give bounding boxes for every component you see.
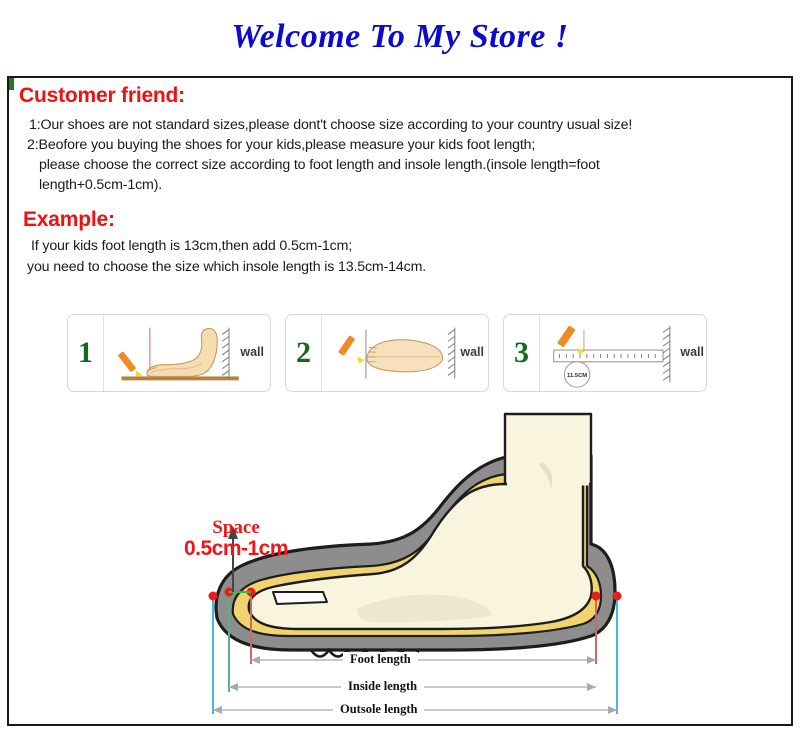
example-line-1: If your kids foot length is 13cm,then ad… xyxy=(31,238,352,254)
toe-space-label: Space 0.5cm-1cm xyxy=(151,518,321,560)
title-bar: Welcome To My Store ! xyxy=(0,18,800,56)
customer-line-4: length+0.5cm-1cm). xyxy=(39,177,162,193)
space-word: Space xyxy=(151,518,321,538)
example-line-2: you need to choose the size which insole… xyxy=(27,259,426,275)
corner-accent xyxy=(9,78,14,90)
step-art-3: 11.5CM xyxy=(540,315,706,391)
step-number-1: 1 xyxy=(78,338,93,368)
measuring-steps: 1 xyxy=(67,314,707,392)
wall-label-2: wall xyxy=(460,345,484,359)
step-number-2: 2 xyxy=(296,338,311,368)
inside-length-label: Inside length xyxy=(341,679,424,694)
step-art-1: wall xyxy=(104,315,270,391)
example-heading: Example: xyxy=(23,208,115,232)
wall-label-1: wall xyxy=(240,345,264,359)
shoe-cross-section-diagram: Space 0.5cm-1cm Foot length Inside lengt… xyxy=(121,396,681,716)
customer-line-3: please choose the correct size according… xyxy=(39,157,600,173)
step-box-3: 3 xyxy=(503,314,707,392)
step-number-cell-2: 2 xyxy=(286,315,322,391)
foot-length-label: Foot length xyxy=(343,652,418,667)
info-panel: Customer friend: 1:Our shoes are not sta… xyxy=(7,76,793,726)
page-title: Welcome To My Store ! xyxy=(231,18,568,55)
space-value: 0.5cm-1cm xyxy=(151,538,321,560)
customer-line-2: 2:Beofore you buying the shoes for your … xyxy=(27,137,535,153)
customer-friend-heading: Customer friend: xyxy=(19,84,185,108)
measure-badge-text: 11.5CM xyxy=(567,373,587,379)
customer-line-1: 1:Our shoes are not standard sizes,pleas… xyxy=(29,117,632,133)
wall-label-3: wall xyxy=(680,345,704,359)
step-art-2: wall xyxy=(322,315,488,391)
step-number-3: 3 xyxy=(514,338,529,368)
step-number-cell-1: 1 xyxy=(68,315,104,391)
step-box-2: 2 xyxy=(285,314,489,392)
size-guide-page: Welcome To My Store ! Customer friend: 1… xyxy=(0,0,800,735)
step-box-1: 1 xyxy=(67,314,271,392)
outsole-length-label: Outsole length xyxy=(333,702,424,717)
step-number-cell-3: 3 xyxy=(504,315,540,391)
